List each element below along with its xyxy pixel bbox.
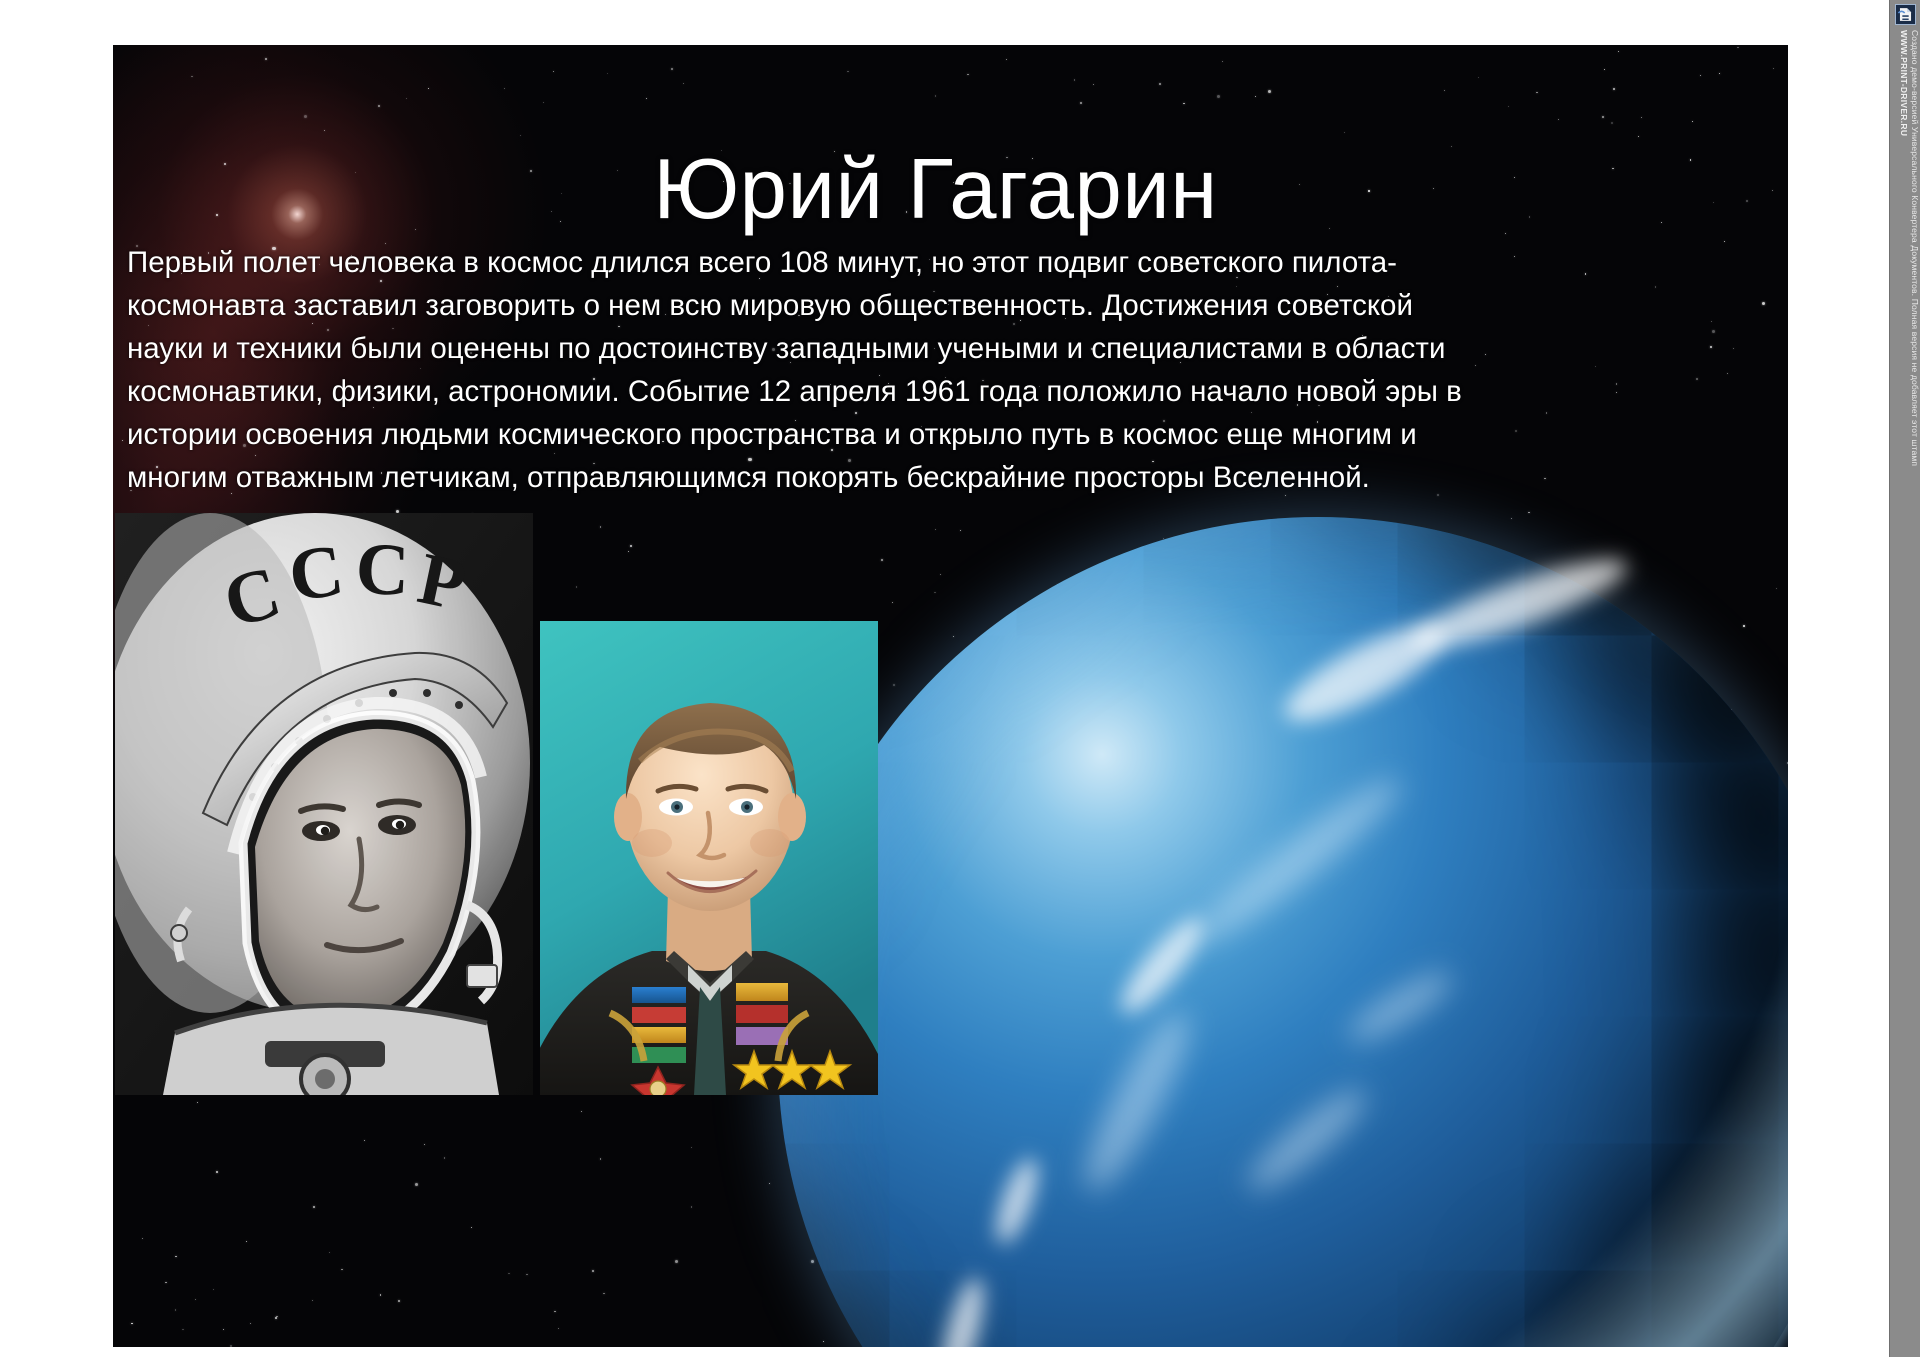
document-converter-icon <box>1895 4 1916 25</box>
slide-body-text: Первый полет человека в космос длился вс… <box>127 241 1472 499</box>
watermark-text-line2: WWW.PRINT-DRIVER.RU <box>1899 30 1909 1350</box>
document-converter-glyph <box>1896 5 1915 24</box>
gagarin-portrait-photo <box>540 621 878 1095</box>
slide-title: Юрий Гагарин <box>113 145 1788 234</box>
watermark-sidebar: Создано демо-версией Универсального Конв… <box>1889 0 1920 1357</box>
portrait-photo-graphic <box>540 621 878 1095</box>
gagarin-helmet-photo: C C C P <box>115 513 533 1095</box>
watermark-text-line1: Создано демо-версией Универсального Конв… <box>1910 30 1920 1350</box>
presentation-slide: Юрий Гагарин Первый полет человека в кос… <box>113 45 1788 1347</box>
helmet-photo-graphic: C C C P <box>115 513 533 1095</box>
